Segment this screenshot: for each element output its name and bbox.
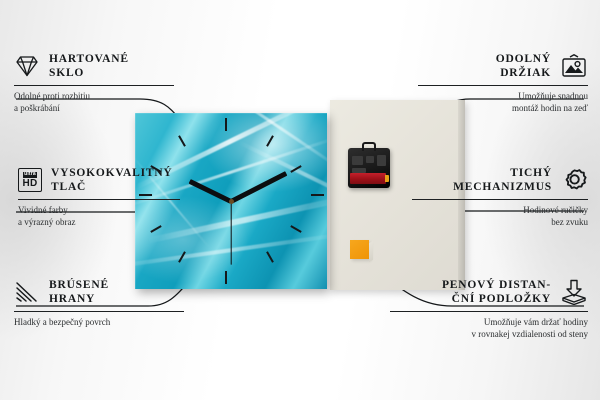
feature-title: VYSOKOKVALITNÝ TLAČ	[51, 166, 173, 194]
foam-spacer-pad	[350, 240, 369, 259]
divider	[14, 311, 184, 312]
feature-desc: Hodinové ručičky bez zvuku	[412, 205, 588, 228]
feature-title: PENOVÝ DISTAN- ČNÍ PODLOŽKY	[442, 278, 551, 306]
diamond-icon	[14, 54, 40, 78]
feature-tempered-glass: HARTOVANÉ SKLO Odolné proti rozbitiu a p…	[14, 52, 174, 114]
feature-high-quality-print: ultra HD VYSOKOKVALITNÝ TLAČ Vividné far…	[18, 166, 180, 228]
gear-icon	[561, 167, 588, 193]
picture-hanger-icon	[560, 54, 588, 79]
hd-badge-top: ultra	[23, 172, 38, 178]
feature-desc: Hladký a bezpečný povrch	[14, 317, 184, 329]
mechanism-hook-icon	[362, 142, 376, 151]
feature-title: BRÚSENÉ HRANY	[49, 278, 109, 306]
infographic-canvas: HARTOVANÉ SKLO Odolné proti rozbitiu a p…	[0, 0, 600, 400]
clock-mechanism	[348, 148, 390, 188]
feature-silent-mechanism: TICHÝ MECHANIZMUS Hodinové ručičky bez z…	[412, 166, 588, 228]
clock-second-hand	[230, 201, 231, 265]
divider	[390, 311, 588, 312]
feature-title: ODOLNÝ DRŽIAK	[496, 52, 551, 80]
hatched-edges-icon	[14, 280, 40, 304]
hd-badge-bottom: HD	[22, 179, 37, 189]
feature-desc: Odolné proti rozbitiu a poškrábání	[14, 91, 174, 114]
divider	[412, 199, 588, 200]
divider	[18, 199, 180, 200]
feature-foam-spacers: PENOVÝ DISTAN- ČNÍ PODLOŽKY Umožňuje vám…	[390, 278, 588, 340]
divider	[14, 85, 174, 86]
feature-title: TICHÝ MECHANIZMUS	[453, 166, 552, 194]
feature-polished-edges: BRÚSENÉ HRANY Hladký a bezpečný povrch	[14, 278, 184, 329]
press-down-icon	[560, 279, 588, 305]
ultra-hd-icon: ultra HD	[18, 168, 42, 192]
feature-durable-hanger: ODOLNÝ DRŽIAK Umožňuje snadnou montáž ho…	[418, 52, 588, 114]
mechanism-battery	[350, 173, 386, 184]
divider	[418, 85, 588, 86]
feature-desc: Vividné farby a výrazný obraz	[18, 205, 180, 228]
feature-desc: Umožňuje snadnou montáž hodin na zeď	[418, 91, 588, 114]
clock-center-pin	[229, 199, 234, 204]
feature-desc: Umožňuje vám držať hodiny v rovnakej vzd…	[390, 317, 588, 340]
feature-title: HARTOVANÉ SKLO	[49, 52, 129, 80]
